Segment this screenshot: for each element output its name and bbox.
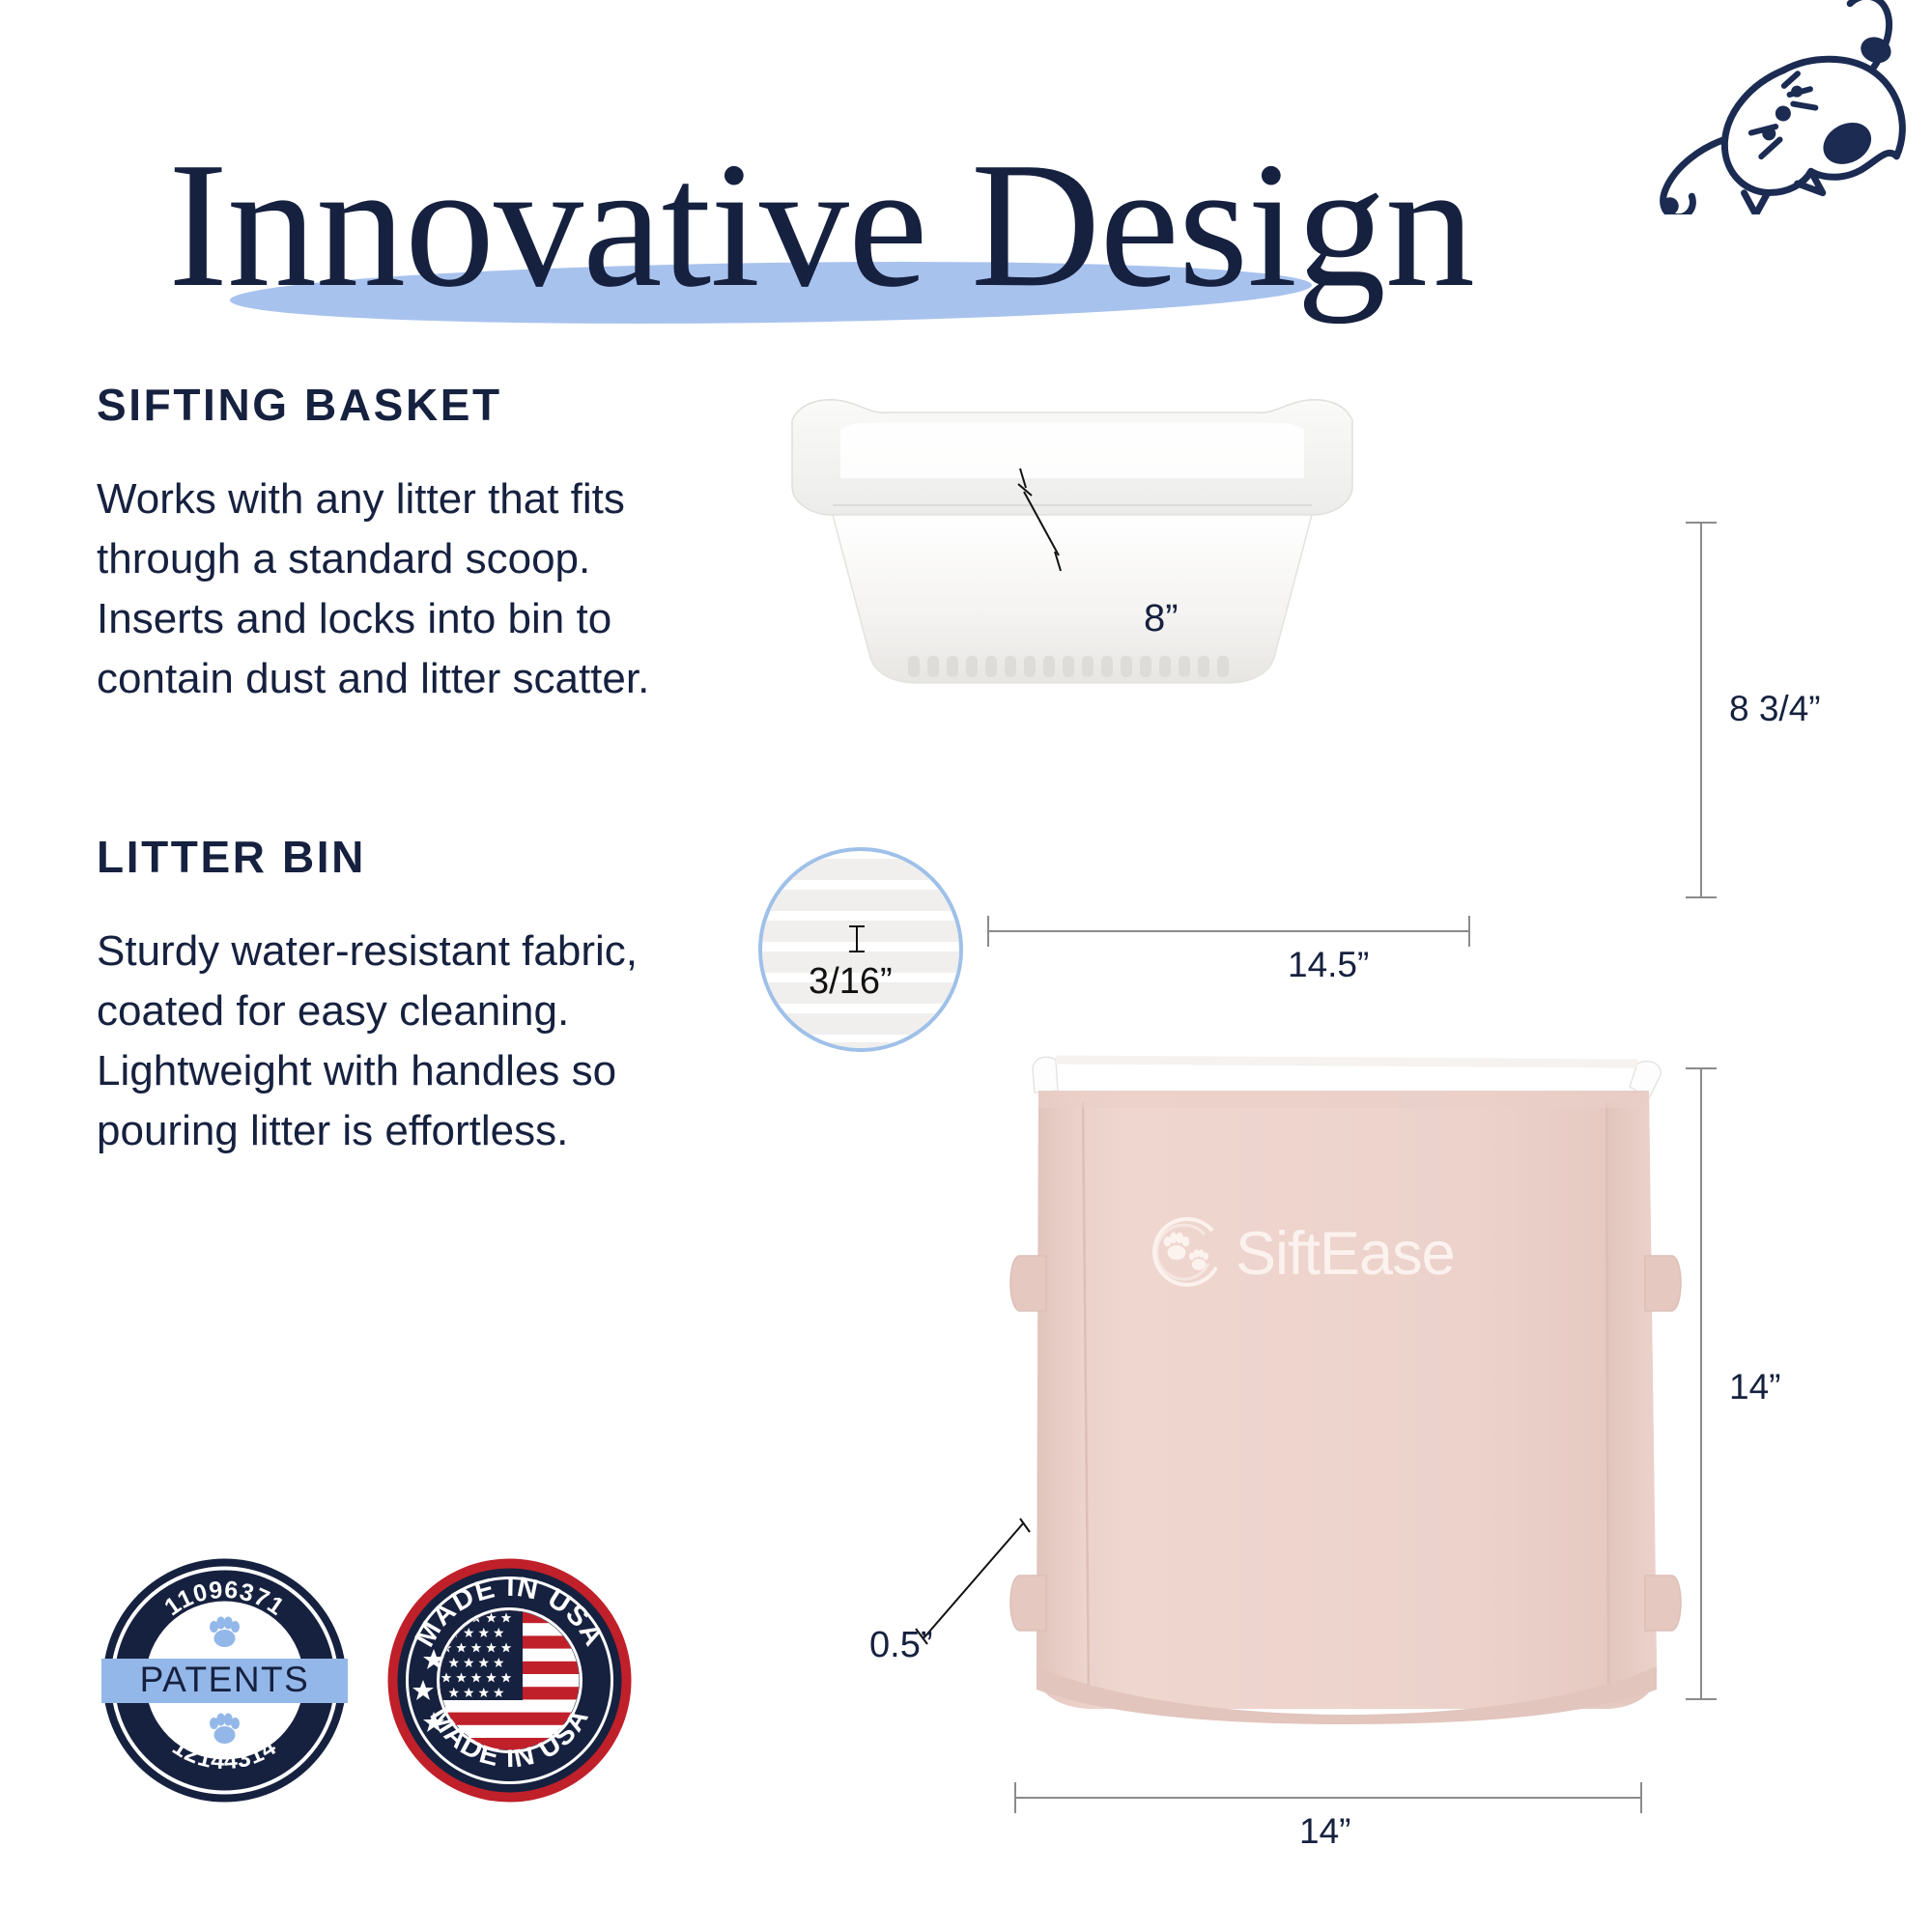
bin-height-label: 14” (1729, 1367, 1780, 1407)
grate-slot-label: 3/16” (809, 961, 893, 1003)
badge-row: 11096371 12144314 PATENTS (101, 1557, 700, 1818)
patents-badge: 11096371 12144314 PATENTS (101, 1557, 348, 1804)
basket-height-label: 8 3/4” (1729, 689, 1821, 729)
bin-thickness-label: 0.5” (869, 1625, 932, 1666)
us-flag-icon (440, 1610, 580, 1750)
basket-width-dimension-line (987, 930, 1470, 932)
basket-depth-label: 8” (1144, 597, 1179, 640)
basket-height-dimension-line (1700, 522, 1702, 898)
sifting-basket-image (782, 391, 1362, 710)
sifting-basket-text-block: SIFTING BASKET Works with any litter tha… (97, 379, 696, 709)
litter-bin-body: Sturdy water-resistant fabric, coated fo… (97, 922, 715, 1161)
patents-label: PATENTS (140, 1660, 310, 1699)
made-in-usa-badge: MADE IN USA MADE IN USA (386, 1557, 633, 1804)
page-title-block: Innovative Design (0, 126, 1642, 357)
sifting-basket-heading: SIFTING BASKET (97, 379, 696, 431)
basket-width-cap-left (987, 916, 989, 947)
bin-width-dimension-line (1014, 1797, 1642, 1799)
basket-width-label: 14.5” (1288, 945, 1369, 985)
bin-width-cap-left (1014, 1782, 1016, 1813)
litter-bin-image (1000, 1048, 1690, 1724)
basket-width-cap-right (1468, 916, 1470, 947)
basket-height-cap-bottom (1686, 896, 1717, 898)
bin-height-dimension-line (1700, 1067, 1702, 1700)
bin-brand-logo: SiftEase (1145, 1203, 1492, 1304)
bin-width-label: 14” (1299, 1811, 1350, 1852)
basket-height-cap-top (1686, 522, 1717, 524)
bin-width-cap-right (1640, 1782, 1642, 1813)
sifting-basket-body: Works with any litter that fits through … (97, 469, 696, 709)
bin-brand-name: SiftEase (1236, 1219, 1455, 1289)
litter-bin-heading: LITTER BIN (97, 831, 715, 883)
bin-height-cap-top (1686, 1067, 1717, 1069)
page-title: Innovative Design (0, 126, 1642, 325)
cat-doodle-icon (1615, 0, 1932, 214)
bin-height-cap-bottom (1686, 1698, 1717, 1700)
litter-bin-text-block: LITTER BIN Sturdy water-resistant fabric… (97, 831, 715, 1161)
slot-width-indicator-icon (842, 923, 871, 955)
paw-circle-icon (1145, 1211, 1230, 1296)
